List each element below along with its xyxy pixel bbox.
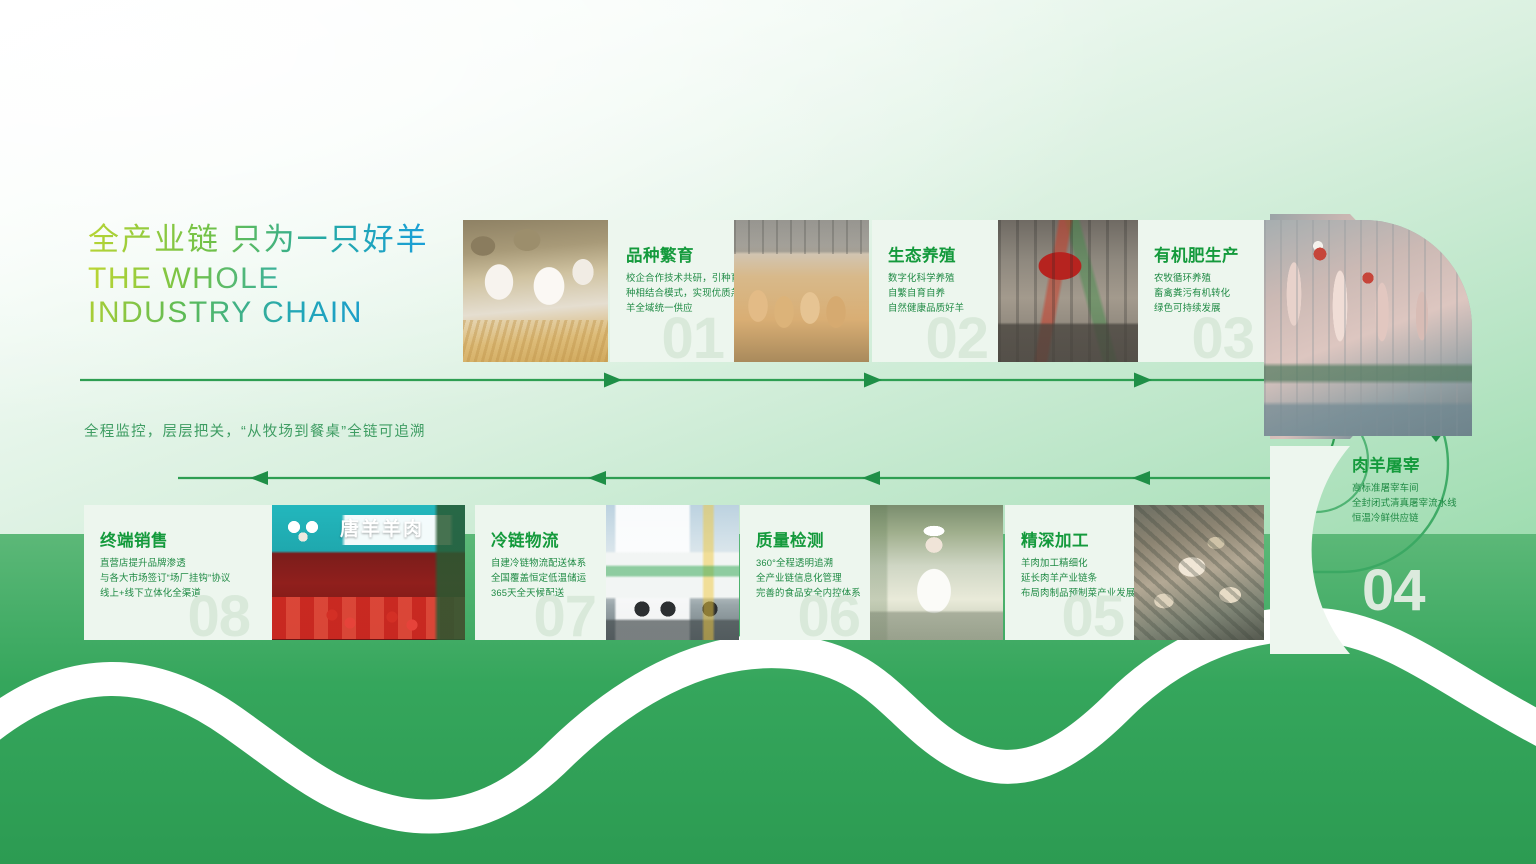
step-card-05[interactable]: 精深加工 羊肉加工精细化 延长肉羊产业链条 布局肉制品预制菜产业发展 05 [1005, 505, 1134, 640]
step-desc-line: 高标准屠宰车间 [1352, 480, 1457, 495]
step-card-07[interactable]: 冷链物流 自建冷链物流配送体系 全国覆盖恒定低温储运 365天全天候配送 07 [475, 505, 606, 640]
step-card-06[interactable]: 质量检测 360°全程透明追溯 全产业链信息化管理 完善的食品安全内控体系 06 [740, 505, 870, 640]
headline-chinese: 全产业链 只为一只好羊 [88, 222, 429, 259]
step-desc-04: 高标准屠宰车间 全封闭式清真屠宰流水线 恒温冷鲜供应链 [1352, 480, 1457, 526]
step-card-02[interactable]: 生态养殖 数字化科学养殖 自繁自育自养 自然健康品质好羊 02 [872, 220, 998, 362]
step-number-07: 07 [533, 588, 596, 640]
step-card-01[interactable]: 品种繁育 校企合作技术共研，引种育 种相结合模式，实现优质羔 羊全域统一供应 0… [610, 220, 734, 362]
step-title-03: 有机肥生产 [1154, 242, 1239, 266]
step-desc-line: 畜禽粪污有机转化 [1154, 285, 1230, 300]
headline-block: 全产业链 只为一只好羊 THE WHOLE INDUSTRY CHAIN [88, 222, 429, 331]
step-title-01: 品种繁育 [626, 242, 694, 266]
step-desc-line: 自繁自育自养 [888, 285, 964, 300]
step-number-06: 06 [797, 588, 860, 640]
headline-english-line1: THE WHOLE [88, 262, 429, 297]
step-desc-line: 360°全程透明追溯 [756, 555, 861, 570]
step-desc-line: 种相结合模式，实现优质羔 [626, 285, 734, 300]
step-photo-04 [1264, 220, 1472, 436]
step-number-05: 05 [1061, 588, 1124, 640]
infographic-canvas: 全产业链 只为一只好羊 THE WHOLE INDUSTRY CHAIN 全程监… [0, 0, 1536, 864]
step-title-02: 生态养殖 [888, 242, 956, 266]
step-number-08: 08 [187, 588, 250, 640]
step-photo-06 [870, 505, 1003, 640]
headline-english-line2: INDUSTRY CHAIN [88, 296, 429, 331]
step-desc-line: 全封闭式清真屠宰流水线 [1352, 495, 1457, 510]
step-desc-line: 校企合作技术共研，引种育 [626, 270, 734, 285]
step-photo-05 [1134, 505, 1264, 640]
step-photo-02 [734, 220, 869, 362]
step-number-02: 02 [925, 310, 988, 362]
step-title-08: 终端销售 [100, 527, 168, 551]
step-number-04: 04 [1362, 562, 1425, 620]
step-title-04: 肉羊屠宰 [1352, 452, 1420, 476]
step-number-03: 03 [1191, 310, 1254, 362]
step-photo-03 [998, 220, 1138, 362]
step-title-06: 质量检测 [756, 527, 824, 551]
subtitle-text: 全程监控，层层把关，“从牧场到餐桌”全链可追溯 [84, 420, 426, 441]
step-photo-01 [463, 220, 608, 362]
step-card-03[interactable]: 有机肥生产 农牧循环养殖 畜禽粪污有机转化 绿色可持续发展 03 [1138, 220, 1264, 362]
step-desc-line: 直营店提升品牌渗透 [100, 555, 230, 570]
step-number-01: 01 [661, 310, 724, 362]
step-desc-line: 自建冷链物流配送体系 [491, 555, 586, 570]
step-card-04[interactable]: 肉羊屠宰 高标准屠宰车间 全封闭式清真屠宰流水线 恒温冷鲜供应链 04 [1344, 444, 1536, 654]
step-photo-07 [606, 505, 739, 640]
step-desc-line: 数字化科学养殖 [888, 270, 964, 285]
step-card-08[interactable]: 终端销售 直营店提升品牌渗透 与各大市场签订“场厂挂钩”协议 线上+线下立体化全… [84, 505, 272, 640]
step-desc-line: 羊肉加工精细化 [1021, 555, 1134, 570]
storefront-sign-text: 唐羊羊肉 [340, 514, 424, 541]
step-desc-line: 农牧循环养殖 [1154, 270, 1230, 285]
step-title-05: 精深加工 [1021, 527, 1089, 551]
step-desc-line: 恒温冷鲜供应链 [1352, 510, 1457, 525]
step-title-07: 冷链物流 [491, 527, 559, 551]
